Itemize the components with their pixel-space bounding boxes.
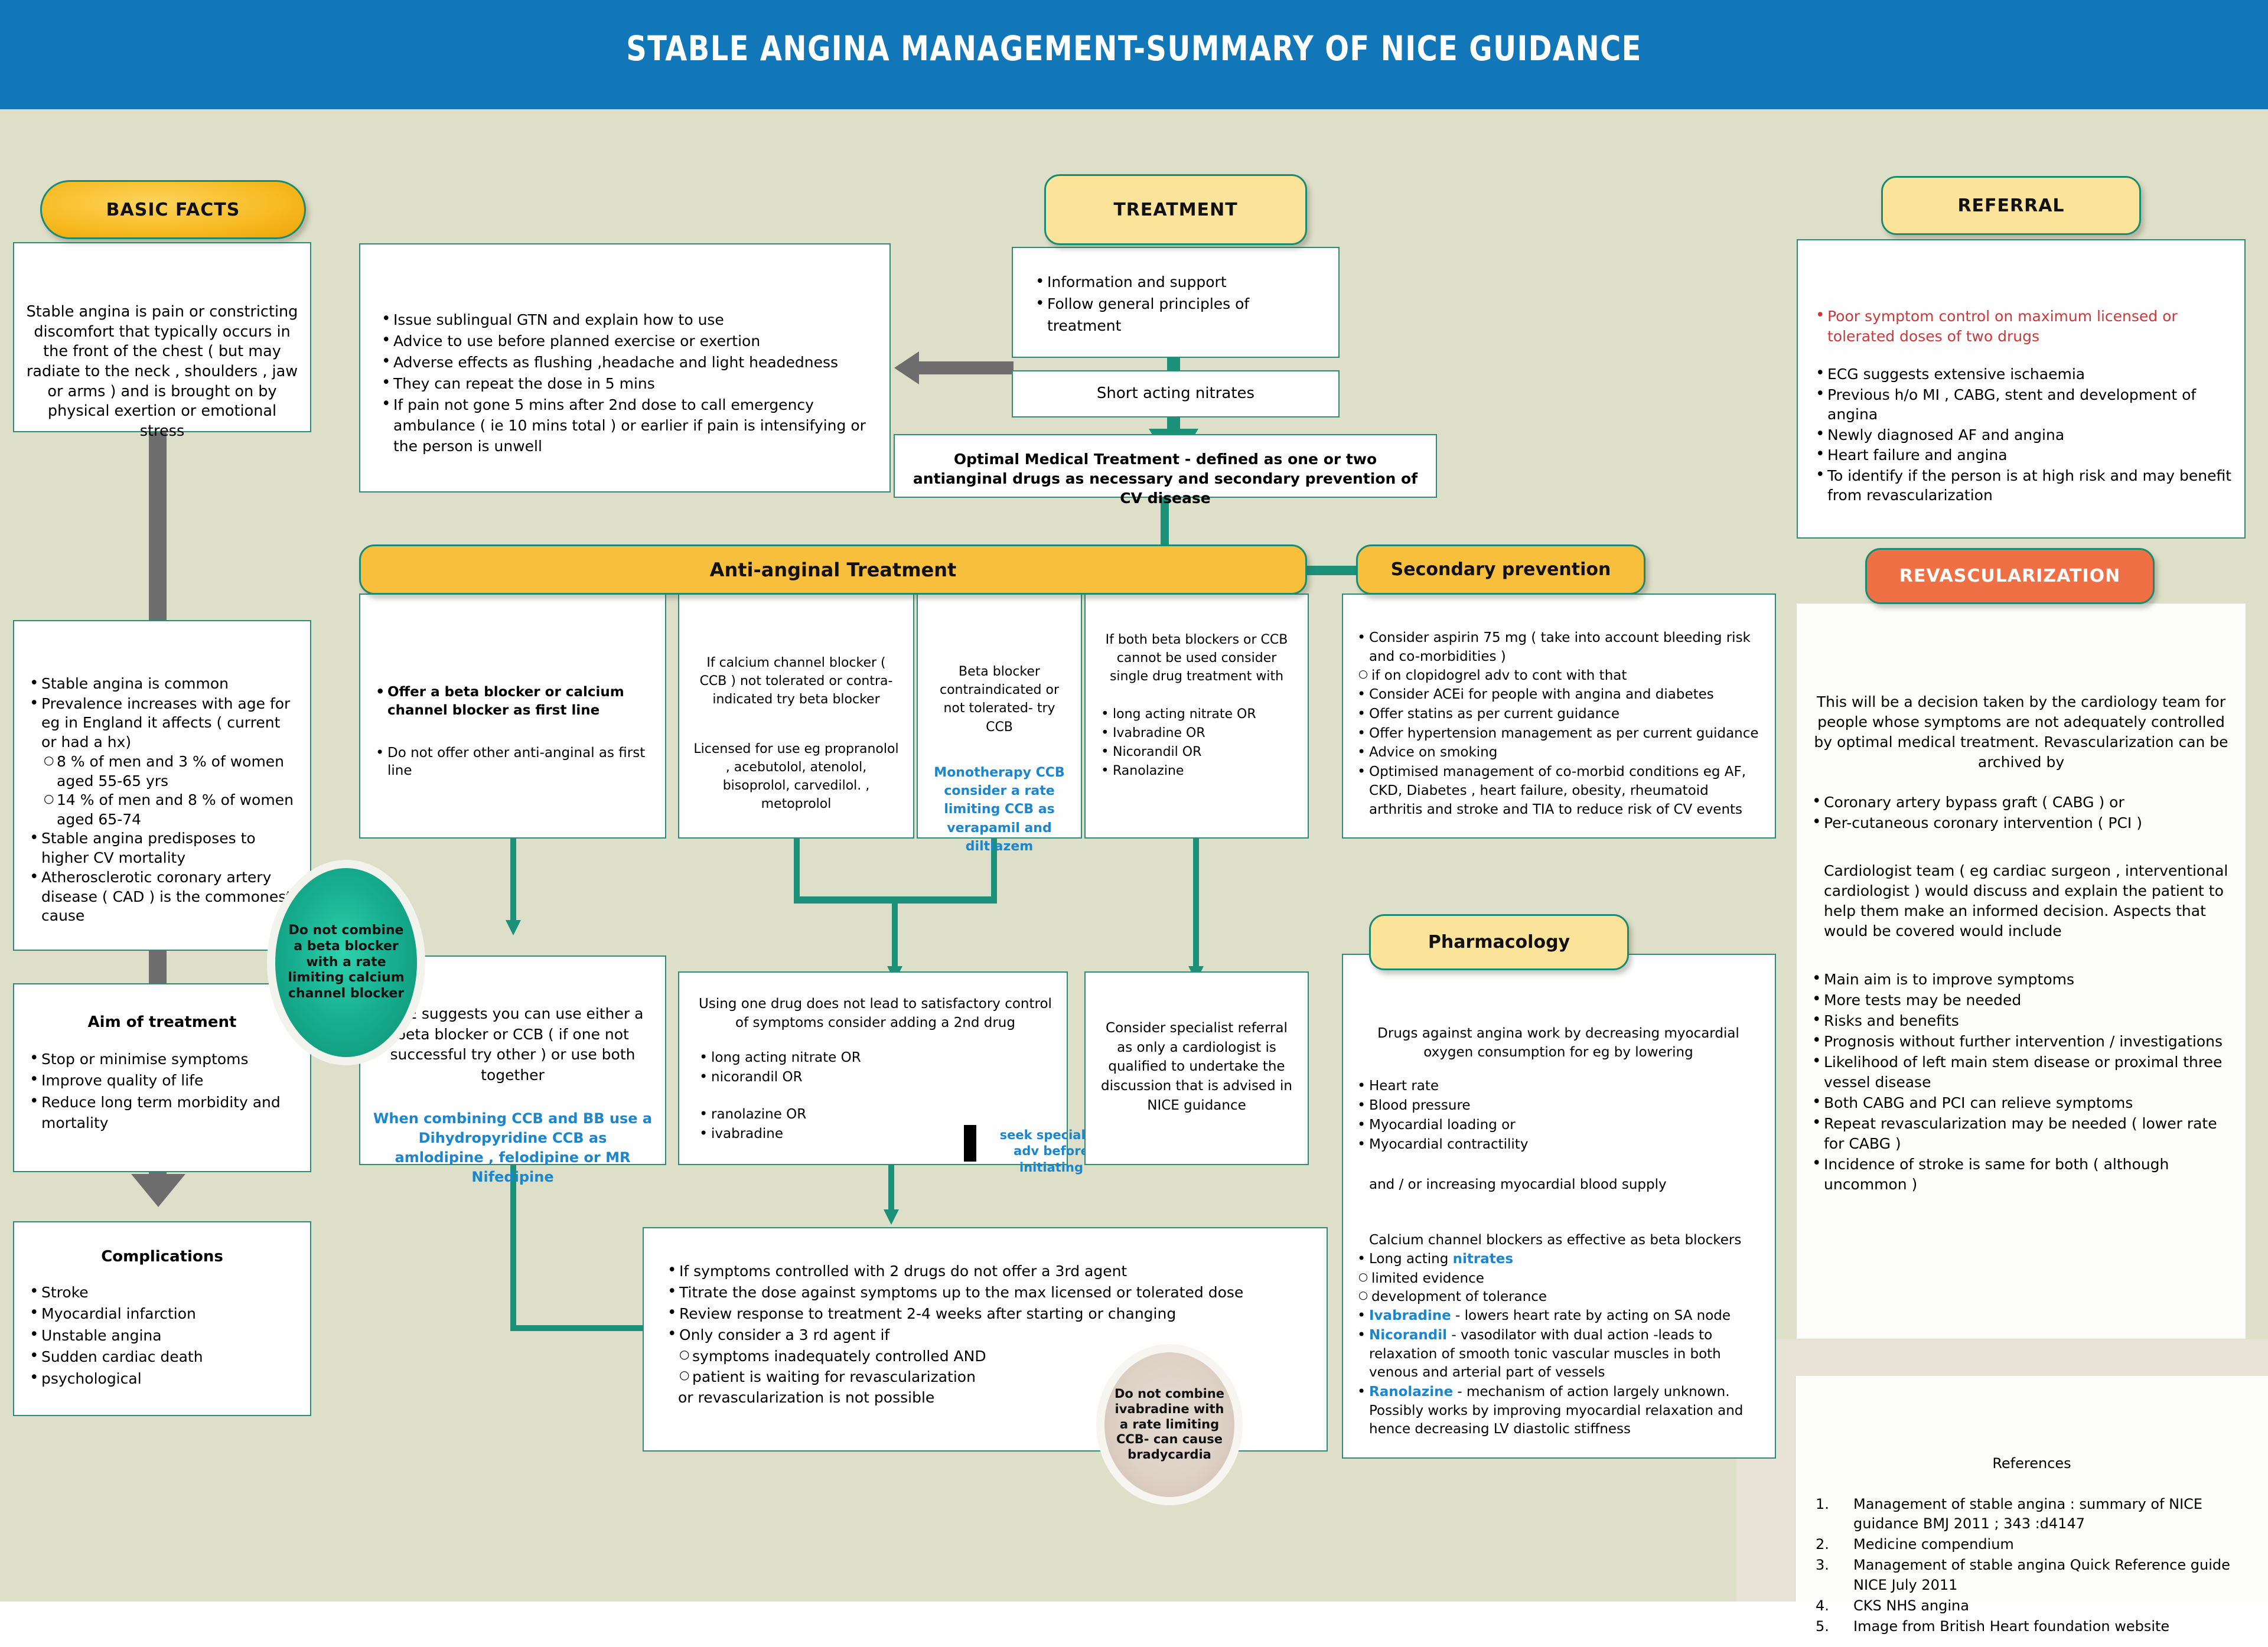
optimal-medical-text: Optimal Medical Treatment - defined as o… bbox=[895, 435, 1436, 517]
list-item: Adverse effects as flushing ,headache an… bbox=[378, 352, 878, 373]
revascularization-methods: Coronary artery bypass graft ( CABG ) or… bbox=[1808, 792, 2234, 833]
callout-do-not-combine-bb-ccb: Do not combine a beta blocker with a rat… bbox=[275, 868, 417, 1057]
poster-canvas: STABLE ANGINA MANAGEMENT-SUMMARY OF NICE… bbox=[0, 0, 2268, 1602]
list-item: ranolazine OR bbox=[696, 1105, 1055, 1124]
list-item: Stop or minimise symptoms bbox=[26, 1049, 298, 1070]
referral-label: REFERRAL bbox=[1957, 195, 2064, 216]
complications-list: Stroke Myocardial infarction Unstable an… bbox=[26, 1282, 298, 1390]
nitrates-label: Long acting bbox=[1369, 1251, 1453, 1267]
list-item: Myocardial loading or bbox=[1354, 1116, 1763, 1135]
gtn-advice-card: Issue sublingual GTN and explain how to … bbox=[359, 243, 891, 493]
list-item: Likelihood of left main stem disease or … bbox=[1808, 1052, 2234, 1092]
references-panel: References Management of stable angina :… bbox=[1795, 1376, 2268, 1602]
list-item: Nicorandil OR bbox=[1097, 743, 1296, 762]
list-item: Ivabradine - lowers heart rate by acting… bbox=[1354, 1307, 1763, 1326]
complications-title: Complications bbox=[26, 1246, 298, 1268]
list-item: Offer hypertension management as per cur… bbox=[1354, 725, 1763, 743]
list-item: Per-cutaneous coronary intervention ( PC… bbox=[1808, 813, 2234, 833]
anti-anginal-col4-head: If both beta blockers or CCB cannot be u… bbox=[1097, 631, 1296, 686]
list-item: Review response to treatment 2-4 weeks a… bbox=[664, 1303, 1315, 1324]
page-title: STABLE ANGINA MANAGEMENT-SUMMARY OF NICE… bbox=[91, 28, 2178, 69]
list-item: Main aim is to improve symptoms bbox=[1808, 970, 2234, 990]
list-item: 8 % of men and 3 % of women aged 55-65 y… bbox=[43, 752, 298, 791]
pharmacology-ccb-line: Calcium channel blockers as effective as… bbox=[1354, 1231, 1763, 1250]
list-item: Sudden cardiac death bbox=[26, 1346, 298, 1368]
list-item: Prevalence increases with age for eg in … bbox=[26, 694, 298, 752]
list-item: Long acting nitrates bbox=[1354, 1250, 1763, 1269]
arrow-nitrates-to-gtn bbox=[894, 351, 919, 384]
list-item: symptoms inadequately controlled AND bbox=[678, 1346, 1315, 1366]
page-header: STABLE ANGINA MANAGEMENT-SUMMARY OF NICE… bbox=[0, 0, 2268, 109]
list-item: Unstable angina bbox=[26, 1325, 298, 1346]
list-item: Advice on smoking bbox=[1354, 743, 1763, 762]
list-item: Offer a beta blocker or calcium channel … bbox=[372, 683, 653, 720]
connector-nice-right bbox=[510, 1325, 652, 1331]
list-item: Incidence of stroke is same for both ( a… bbox=[1808, 1154, 2234, 1195]
definition-text: Stable angina is pain or constricting di… bbox=[14, 243, 310, 451]
list-item: Consider ACEi for people with angina and… bbox=[1354, 686, 1763, 705]
revascularization-label: REVASCULARIZATION bbox=[1899, 566, 2120, 586]
aim-of-treatment-title: Aim of treatment bbox=[26, 1012, 298, 1033]
list-item: Ivabradine OR bbox=[1097, 725, 1296, 743]
referral-list: ECG suggests extensive ischaemia Previou… bbox=[1812, 364, 2233, 505]
pharmacology-nitrates: Long acting nitrates bbox=[1354, 1250, 1763, 1269]
secondary-prevention-list-2: Consider ACEi for people with angina and… bbox=[1354, 686, 1763, 819]
third-agent-list: If symptoms controlled with 2 drugs do n… bbox=[664, 1261, 1315, 1345]
list-item: Repeat revascularization may be needed (… bbox=[1808, 1114, 2234, 1154]
connector-aim-to-complications bbox=[149, 1172, 167, 1185]
list-item: Do not offer other anti-anginal as first… bbox=[372, 744, 653, 781]
anti-anginal-col3-bottom: Monotherapy CCB consider a rate limiting… bbox=[930, 764, 1069, 856]
list-item: Risks and benefits bbox=[1808, 1011, 2234, 1031]
anti-anginal-col4-list: long acting nitrate OR Ivabradine OR Nic… bbox=[1097, 706, 1296, 780]
epidemiology-list-2: Stable angina predisposes to higher CV m… bbox=[26, 829, 298, 926]
second-drug-list-a: long acting nitrate OR nicorandil OR bbox=[696, 1049, 1055, 1087]
list-item: development of tolerance bbox=[1357, 1288, 1763, 1307]
list-item: Improve quality of life bbox=[26, 1070, 298, 1091]
nice-suggest-blue: When combining CCB and BB use a Dihydrop… bbox=[372, 1109, 653, 1187]
anti-anginal-label: Anti-anginal Treatment bbox=[710, 559, 957, 581]
optimal-medical-treatment-card: Optimal Medical Treatment - defined as o… bbox=[894, 434, 1437, 498]
list-item: Myocardial infarction bbox=[26, 1303, 298, 1325]
anti-anginal-col1-list-2: Do not offer other anti-anginal as first… bbox=[372, 744, 653, 781]
drug-name: Ranolazine bbox=[1369, 1384, 1453, 1400]
callout-beige-text: Do not combine ivabradine with a rate li… bbox=[1104, 1387, 1234, 1462]
connector-definition-to-epidemiology bbox=[149, 432, 167, 620]
list-item: Titrate the dose against symptoms up to … bbox=[664, 1282, 1315, 1303]
anti-anginal-col1-card: Offer a beta blocker or calcium channel … bbox=[359, 593, 666, 839]
revascularization-card: This will be a decision taken by the car… bbox=[1797, 604, 2246, 1339]
list-item: Offer statins as per current guidance bbox=[1354, 705, 1763, 724]
anti-anginal-col2-card: If calcium channel blocker ( CCB ) not t… bbox=[678, 593, 914, 839]
definition-card: Stable angina is pain or constricting di… bbox=[13, 242, 311, 432]
connector-col2-down bbox=[794, 839, 800, 901]
callout-do-not-combine-ivabradine: Do not combine ivabradine with a rate li… bbox=[1104, 1352, 1234, 1497]
list-item: Optimised management of co-morbid condit… bbox=[1354, 763, 1763, 819]
secondary-prevention-pill[interactable]: Secondary prevention bbox=[1356, 544, 1645, 595]
list-item: Issue sublingual GTN and explain how to … bbox=[378, 309, 878, 330]
drug-name: Ivabradine bbox=[1369, 1308, 1451, 1323]
nitrates-blue: nitrates bbox=[1453, 1251, 1513, 1267]
short-acting-nitrates-text: Short acting nitrates bbox=[1013, 371, 1338, 412]
list-item: Stable angina predisposes to higher CV m… bbox=[26, 829, 298, 867]
list-item: ECG suggests extensive ischaemia bbox=[1812, 364, 2233, 384]
black-divider-bar bbox=[964, 1125, 976, 1162]
anti-anginal-col4-card: If both beta blockers or CCB cannot be u… bbox=[1084, 593, 1309, 839]
list-item: Follow general principles of treatment bbox=[1032, 293, 1327, 337]
list-item: psychological bbox=[26, 1368, 298, 1390]
list-item: Management of stable angina : summary of… bbox=[1807, 1495, 2256, 1534]
list-item: long acting nitrate OR bbox=[696, 1049, 1055, 1068]
specialist-referral-card: Consider specialist referral as only a c… bbox=[1084, 971, 1309, 1165]
callout-teal-text: Do not combine a beta blocker with a rat… bbox=[275, 923, 417, 1002]
revascularization-intro: This will be a decision taken by the car… bbox=[1808, 692, 2234, 772]
list-item: Stable angina is common bbox=[26, 674, 298, 694]
list-item: Consider aspirin 75 mg ( take into accou… bbox=[1354, 629, 1763, 666]
references-list: Management of stable angina : summary of… bbox=[1807, 1495, 2256, 1636]
list-item: Heart rate bbox=[1354, 1077, 1763, 1096]
basic-facts-pill[interactable]: BASIC FACTS bbox=[40, 180, 306, 239]
referral-card: Poor symptom control on maximum licensed… bbox=[1797, 239, 2246, 539]
aim-of-treatment-list: Stop or minimise symptoms Improve qualit… bbox=[26, 1049, 298, 1134]
treatment-label: TREATMENT bbox=[1113, 200, 1237, 220]
pharmacology-pill[interactable]: Pharmacology bbox=[1369, 914, 1629, 970]
aim-of-treatment-card: Aim of treatment Stop or minimise sympto… bbox=[13, 983, 311, 1172]
list-item: Ranolazine - mechanism of action largely… bbox=[1354, 1383, 1763, 1439]
list-item: If pain not gone 5 mins after 2nd dose t… bbox=[378, 394, 878, 456]
list-item: More tests may be needed bbox=[1808, 990, 2234, 1010]
list-item: Newly diagnosed AF and angina bbox=[1812, 425, 2233, 445]
anti-anginal-pill[interactable]: Anti-anginal Treatment bbox=[359, 544, 1307, 595]
anti-anginal-col2-bottom: Licensed for use eg propranolol , acebut… bbox=[691, 740, 901, 814]
anti-anginal-col1-list: Offer a beta blocker or calcium channel … bbox=[372, 683, 653, 720]
basic-facts-label: BASIC FACTS bbox=[106, 200, 240, 220]
list-item: Management of stable angina Quick Refere… bbox=[1807, 1555, 2256, 1594]
list-item: Stroke bbox=[26, 1282, 298, 1303]
list-item: nicorandil OR bbox=[696, 1068, 1055, 1087]
references-title: References bbox=[1807, 1454, 2256, 1473]
epidemiology-list: Stable angina is common Prevalence incre… bbox=[26, 674, 298, 752]
list-item: Atherosclerotic coronary artery disease … bbox=[26, 868, 298, 926]
treatment-pill[interactable]: TREATMENT bbox=[1044, 174, 1307, 245]
treatment-principles-card: Information and support Follow general p… bbox=[1012, 247, 1340, 358]
epidemiology-sublist: 8 % of men and 3 % of women aged 55-65 y… bbox=[43, 752, 298, 829]
list-item: Poor symptom control on maximum licensed… bbox=[1812, 306, 2233, 346]
pharmacology-nitrate-subs: limited evidence development of toleranc… bbox=[1357, 1270, 1763, 1307]
connector-nitrates-to-gtn bbox=[919, 361, 1014, 374]
treatment-principles-list: Information and support Follow general p… bbox=[1032, 272, 1327, 337]
list-item: CKS NHS angina bbox=[1807, 1596, 2256, 1616]
list-item: limited evidence bbox=[1357, 1270, 1763, 1289]
secondary-prevention-list: Consider aspirin 75 mg ( take into accou… bbox=[1354, 629, 1763, 666]
list-item: Prognosis without further intervention /… bbox=[1808, 1032, 2234, 1052]
list-item: Reduce long term morbidity and mortality bbox=[26, 1092, 298, 1134]
list-item: Information and support bbox=[1032, 272, 1327, 293]
revascularization-team-note: Cardiologist team ( eg cardiac surgeon ,… bbox=[1808, 861, 2234, 941]
anti-anginal-col2-top: If calcium channel blocker ( CCB ) not t… bbox=[691, 654, 901, 709]
pharmacology-mechanisms: Heart rate Blood pressure Myocardial loa… bbox=[1354, 1077, 1763, 1154]
connector-epidemiology-to-aim bbox=[149, 951, 167, 986]
list-item: Myocardial contractility bbox=[1354, 1136, 1763, 1154]
connector-col4-down bbox=[1193, 839, 1199, 972]
secondary-prevention-sublist: if on clopidogrel adv to cont with that bbox=[1357, 667, 1763, 686]
complications-card: Complications Stroke Myocardial infarcti… bbox=[13, 1221, 311, 1416]
connector-col23-stem bbox=[892, 902, 898, 974]
revascularization-pill[interactable]: REVASCULARIZATION bbox=[1865, 548, 2155, 604]
nice-suggest-black: NICE suggests you can use either a beta … bbox=[372, 1004, 653, 1085]
list-item: Previous h/o MI , CABG, stent and develo… bbox=[1812, 385, 2233, 425]
list-item: Both CABG and PCI can relieve symptoms bbox=[1808, 1093, 2234, 1113]
epidemiology-card: Stable angina is common Prevalence incre… bbox=[13, 620, 311, 951]
list-item: if on clopidogrel adv to cont with that bbox=[1357, 667, 1763, 686]
second-drug-card: Using one drug does not lead to satisfac… bbox=[678, 971, 1068, 1165]
drug-desc: - lowers heart rate by acting on SA node bbox=[1451, 1308, 1731, 1323]
list-item: Heart failure and angina bbox=[1812, 445, 2233, 465]
gtn-list: Issue sublingual GTN and explain how to … bbox=[378, 309, 878, 456]
secondary-prevention-card: Consider aspirin 75 mg ( take into accou… bbox=[1342, 593, 1776, 839]
list-item: Only consider a 3 rd agent if bbox=[664, 1325, 1315, 1345]
anti-anginal-col3-top: Beta blocker contraindicated or not tole… bbox=[930, 663, 1069, 736]
list-item: Medicine compendium bbox=[1807, 1535, 2256, 1554]
secondary-prevention-label: Secondary prevention bbox=[1391, 559, 1611, 580]
referral-pill[interactable]: REFERRAL bbox=[1881, 176, 2141, 235]
arrowhead-col1 bbox=[506, 920, 521, 935]
revascularization-aspects: Main aim is to improve symptoms More tes… bbox=[1808, 970, 2234, 1195]
short-acting-nitrates-card: Short acting nitrates bbox=[1012, 370, 1340, 418]
connector-col1-down bbox=[510, 839, 516, 927]
list-item: Image from British Heart foundation webs… bbox=[1807, 1617, 2256, 1636]
list-item: They can repeat the dose in 5 mins bbox=[378, 373, 878, 394]
list-item: Nicorandil - vasodilator with dual actio… bbox=[1354, 1326, 1763, 1382]
list-item: long acting nitrate OR bbox=[1097, 706, 1296, 724]
list-item: Blood pressure bbox=[1354, 1097, 1763, 1116]
arrowhead-third-agent bbox=[884, 1209, 899, 1225]
pharmacology-card: Drugs against angina work by decreasing … bbox=[1342, 954, 1776, 1459]
list-item: If symptoms controlled with 2 drugs do n… bbox=[664, 1261, 1315, 1281]
list-item: Ranolazine bbox=[1097, 762, 1296, 781]
pharmacology-label: Pharmacology bbox=[1428, 932, 1570, 953]
list-item: To identify if the person is at high ris… bbox=[1812, 466, 2233, 505]
drug-name: Nicorandil bbox=[1369, 1328, 1447, 1343]
referral-red-list: Poor symptom control on maximum licensed… bbox=[1812, 306, 2233, 346]
list-item: 14 % of men and 8 % of women aged 65-74 bbox=[43, 791, 298, 829]
second-drug-head: Using one drug does not lead to satisfac… bbox=[696, 995, 1055, 1032]
pharmacology-drug-list: Ivabradine - lowers heart rate by acting… bbox=[1354, 1307, 1763, 1439]
pharmacology-intro: Drugs against angina work by decreasing … bbox=[1354, 1025, 1763, 1062]
list-item: Advice to use before planned exercise or… bbox=[378, 331, 878, 351]
anti-anginal-col3-card: Beta blocker contraindicated or not tole… bbox=[917, 593, 1082, 839]
pharmacology-and-or: and / or increasing myocardial blood sup… bbox=[1354, 1176, 1763, 1195]
list-item: Coronary artery bypass graft ( CABG ) or bbox=[1808, 792, 2234, 813]
specialist-referral-text: Consider specialist referral as only a c… bbox=[1086, 973, 1308, 1124]
